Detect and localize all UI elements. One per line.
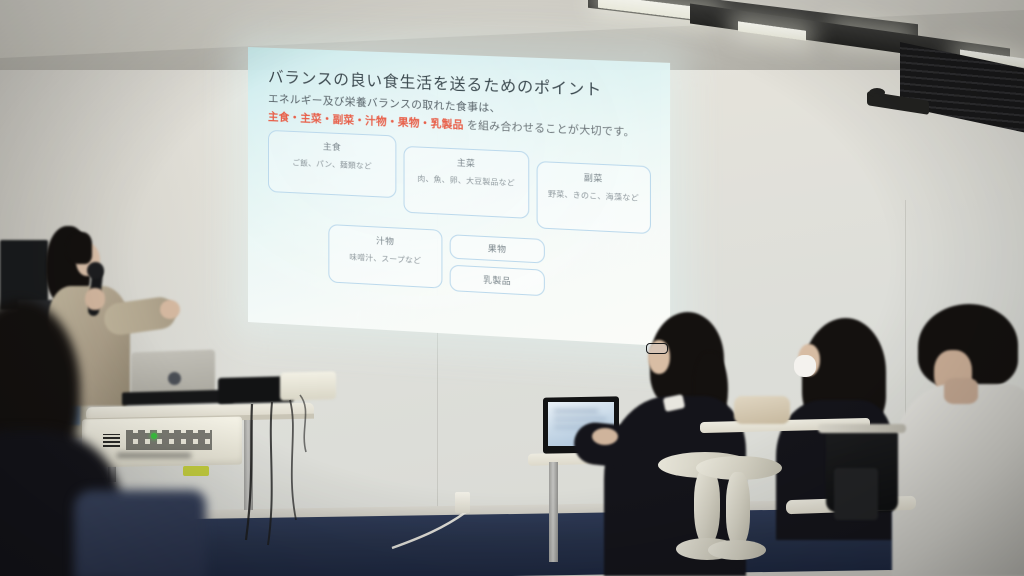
slide-highlight-text: 主食・主菜・副菜・汁物・果物・乳製品 [268, 111, 464, 131]
student-desk-center-leg [549, 462, 558, 562]
slide-box-title: 乳製品 [455, 272, 540, 289]
microphone-head-icon [87, 262, 104, 279]
stool-center-column [694, 468, 720, 546]
bag-pocket [834, 468, 878, 520]
bag-handle-highlight [818, 424, 906, 433]
slide-highlight-suffix: を組み合わせることが大切です。 [464, 119, 635, 139]
slide-box-detail: 野菜、きのこ、海藻など [541, 188, 645, 204]
slide-box-shusai: 主菜 肉、魚、卵、大豆製品など [404, 146, 529, 219]
slide-box-title: 主食 [273, 138, 392, 155]
student-right-neck [944, 378, 978, 404]
slide-box-detail: ご飯、パン、麺類など [273, 157, 392, 174]
slide-box-kudamono: 果物 [450, 235, 545, 264]
slide-box-fukusai: 副菜 野菜、きのこ、海藻など [536, 161, 651, 234]
control-unit-power-led [151, 433, 157, 439]
slide-box-row-1: 主食 ご飯、パン、麺類など 主菜 肉、魚、卵、大豆製品など 副菜 野菜、きのこ、… [268, 130, 651, 234]
presenter-hand-on-mic [85, 288, 105, 310]
stool-right-base [708, 540, 766, 560]
control-unit-logo [103, 434, 120, 447]
slide-box-detail: 味噌汁、スープなど [333, 251, 437, 268]
control-unit-label [117, 453, 191, 458]
classroom-photo-scene: バランスの良い食生活を送るためのポイント エネルギー及び栄養バランスの取れた食事… [0, 0, 1024, 576]
stool-right-column [726, 472, 750, 546]
laptop-brand-mark [168, 372, 181, 385]
slide-box-shushoku: 主食 ご飯、パン、麺類など [268, 130, 397, 198]
projection-screen: バランスの良い食生活を送るためのポイント エネルギー及び栄養バランスの取れた食事… [248, 47, 670, 346]
laptop-screen-line [554, 410, 598, 412]
slide-box-shirumono: 汁物 味噌汁、スープなど [328, 224, 442, 289]
presenter-hand [160, 300, 180, 319]
face-mask-icon [794, 355, 816, 377]
slide-box-row-2: 汁物 味噌汁、スープなど 果物 乳製品 [268, 221, 651, 302]
desk-asset-tag [183, 466, 209, 476]
printer-white [280, 371, 336, 400]
glasses-icon [646, 343, 668, 354]
presenter-hair-front [66, 232, 92, 264]
control-unit-buttons [126, 430, 212, 450]
slide-box-title: 果物 [455, 241, 540, 258]
slide-box-stack: 果物 乳製品 [450, 235, 545, 297]
slide-box-detail: 肉、魚、卵、大豆製品など [409, 173, 524, 190]
tote-bag-beige [734, 396, 790, 424]
student-center-hand [592, 428, 618, 445]
slide-box-title: 副菜 [541, 170, 645, 187]
slide-box-nyuseihin: 乳製品 [450, 265, 545, 297]
slide-box-title: 主菜 [409, 155, 524, 172]
projector-mount-post [874, 93, 879, 103]
slide-box-title: 汁物 [333, 233, 437, 250]
presenter-table-leg-1 [244, 420, 253, 510]
laptop-screen-line [554, 418, 606, 420]
power-outlet-icon [455, 492, 470, 513]
backpack-navy [74, 490, 206, 576]
student-right-shirt [892, 384, 1024, 576]
